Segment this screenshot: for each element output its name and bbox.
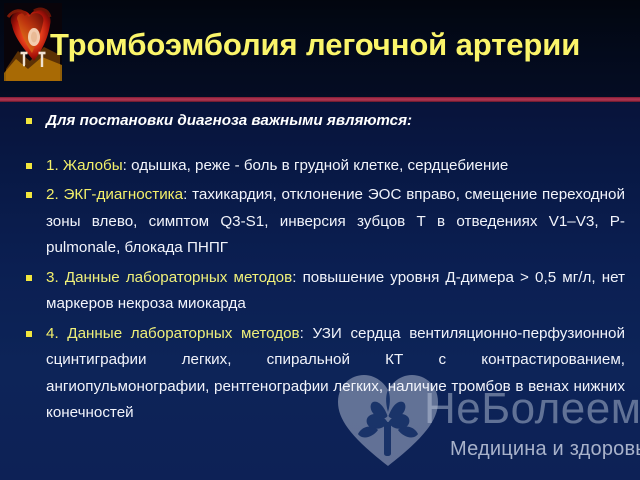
- bullet-item-4: 4. Данные лабораторных методов: УЗИ серд…: [46, 321, 625, 427]
- list-item: 3. Данные лабораторных методов: повышени…: [0, 265, 640, 318]
- bullet-square-icon: [26, 163, 32, 169]
- item-term: Данные лабораторных методов: [65, 269, 292, 286]
- item-number: 3.: [46, 269, 59, 286]
- bullet-item-2: 2. ЭКГ-диагностика: тахикардия, отклонен…: [46, 182, 625, 262]
- item-term: Данные лабораторных методов: [67, 325, 299, 342]
- bullet-square-icon: [26, 118, 32, 124]
- item-body: одышка, реже - боль в грудной клетке, се…: [127, 157, 508, 174]
- spacer: [0, 135, 640, 153]
- bullet-square-icon: [26, 192, 32, 198]
- bullet-list: Для постановки диагноза важными являются…: [0, 108, 640, 427]
- item-number: 4.: [46, 325, 59, 342]
- title-divider: [0, 97, 640, 102]
- list-item: 1. Жалобы: одышка, реже - боль в грудной…: [0, 153, 640, 180]
- item-number: 1.: [46, 157, 59, 174]
- bullet-square-icon: [26, 275, 32, 281]
- watermark-tagline: Медицина и здоровье: [450, 438, 640, 461]
- bullet-item-1: 1. Жалобы: одышка, реже - боль в грудной…: [46, 153, 625, 180]
- item-number: 2.: [46, 186, 59, 203]
- list-item: 2. ЭКГ-диагностика: тахикардия, отклонен…: [0, 182, 640, 262]
- page-title: Тромбоэмболия легочной артерии: [50, 22, 630, 68]
- presentation-slide: Тромбоэмболия легочной артерии НеБолеем …: [0, 0, 640, 480]
- bullet-item-3: 3. Данные лабораторных методов: повышени…: [46, 265, 625, 318]
- item-term: ЭКГ-диагностика: [63, 186, 183, 203]
- list-item: 4. Данные лабораторных методов: УЗИ серд…: [0, 321, 640, 427]
- item-term: Жалобы: [63, 157, 123, 174]
- bullet-lead-text: Для постановки диагноза важными являются…: [46, 108, 625, 135]
- bullet-square-icon: [26, 331, 32, 337]
- list-item: Для постановки диагноза важными являются…: [0, 108, 640, 135]
